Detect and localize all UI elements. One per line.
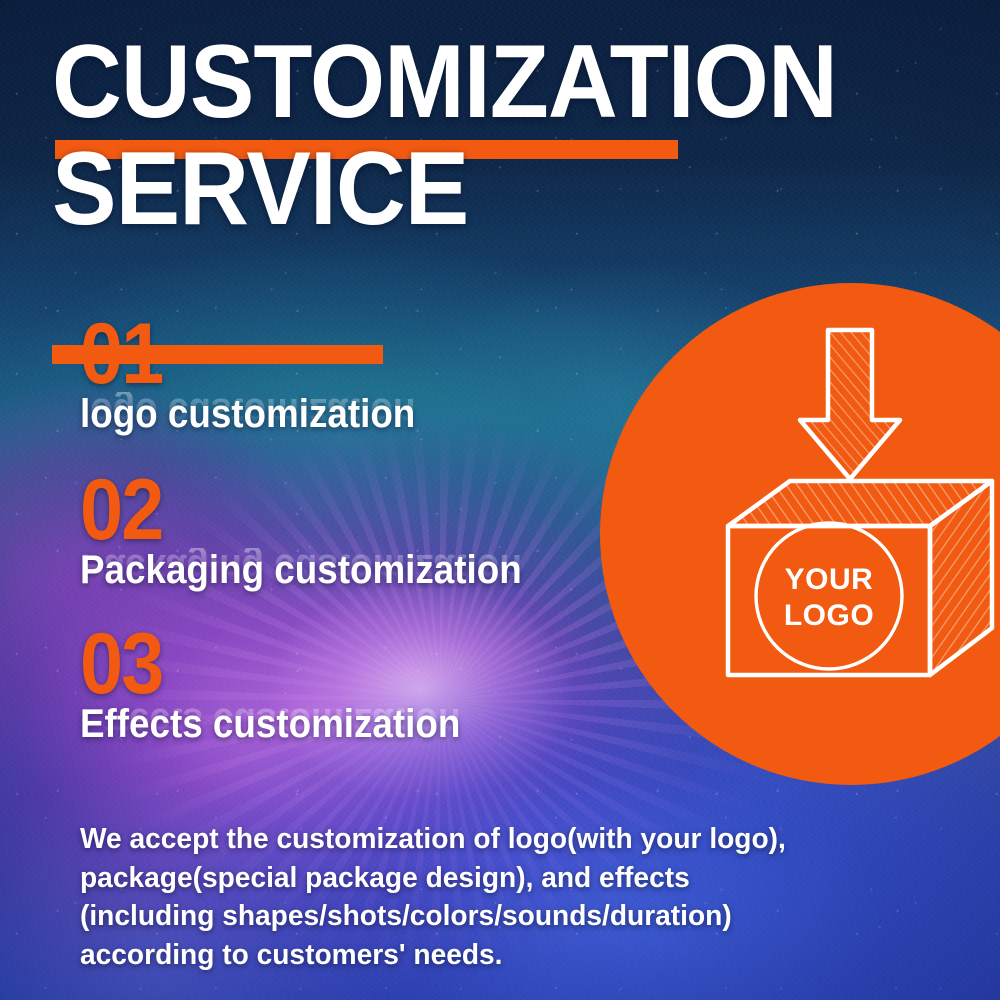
description-paragraph: We accept the customization of logo(with…: [80, 820, 827, 974]
feature-label-01: logo customization: [80, 394, 595, 434]
package-box-illustration: YOUR LOGO: [600, 283, 1000, 785]
title-row-2: SERVICE: [52, 147, 896, 232]
feature-list: 01 logo customization logo customization…: [80, 318, 640, 746]
feature-label-wrap-02: Packaging customization Packaging custom…: [80, 550, 640, 592]
badge-logo-line-1: YOUR: [785, 563, 874, 596]
customization-service-banner: CUSTOMIZATION SERVICE 01 logo customizat…: [0, 0, 1000, 1000]
feature-item-01: 01 logo customization logo customization: [80, 318, 640, 436]
feature-label-02: Packaging customization: [80, 550, 595, 590]
feature-label-03: Effects customization: [80, 704, 595, 744]
title-row-1: CUSTOMIZATION: [52, 40, 896, 125]
feature-item-03: 03 Effects customization Effects customi…: [80, 628, 640, 746]
title-line-customization: CUSTOMIZATION: [52, 40, 837, 125]
feature-label-wrap-01: logo customization logo customization: [80, 394, 640, 436]
feature-number-03: 03: [80, 628, 584, 702]
arrow-down-icon: [800, 330, 900, 479]
title-underline-bar-2: [52, 345, 383, 364]
feature-label-wrap-03: Effects customization Effects customizat…: [80, 704, 640, 746]
badge-logo-line-2: LOGO: [784, 599, 874, 632]
logo-placeholder-circle-icon: [756, 523, 902, 669]
feature-number-02: 02: [80, 474, 584, 548]
feature-item-02: 02 Packaging customization Packaging cus…: [80, 474, 640, 592]
custom-packaging-badge: YOUR LOGO: [600, 283, 1000, 785]
title-line-service: SERVICE: [52, 147, 837, 232]
page-title: CUSTOMIZATION SERVICE: [52, 40, 896, 233]
